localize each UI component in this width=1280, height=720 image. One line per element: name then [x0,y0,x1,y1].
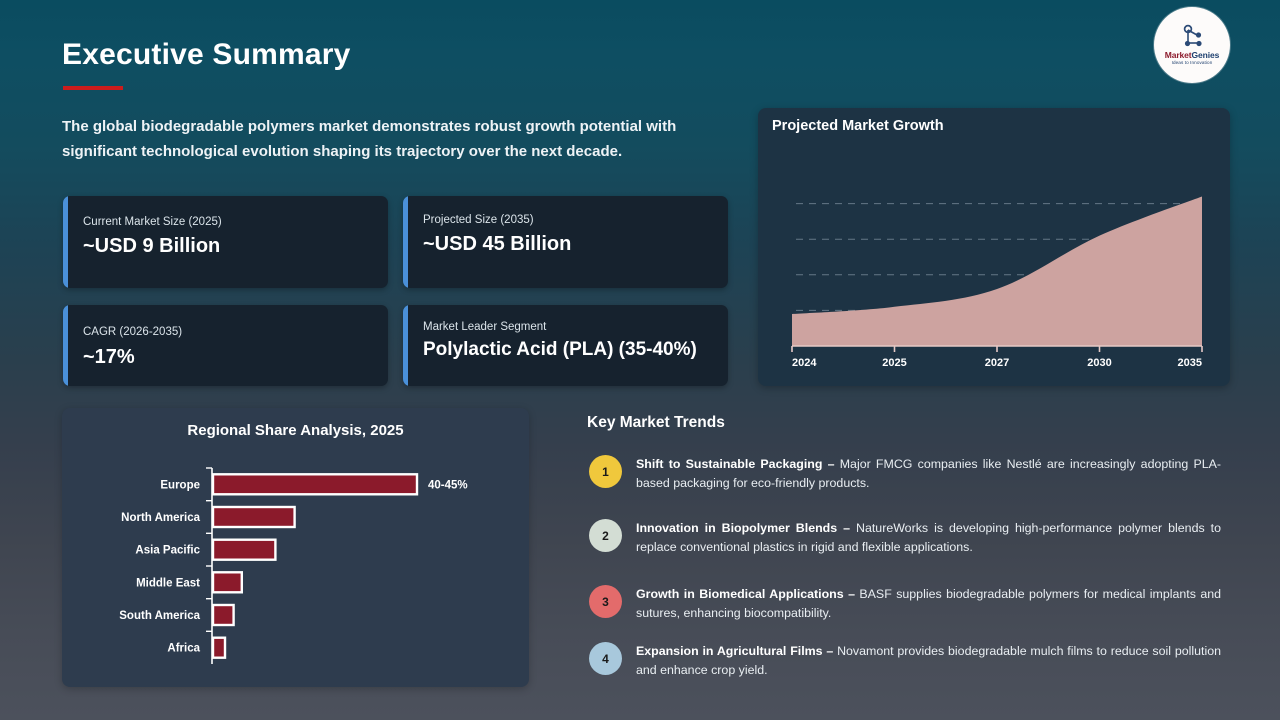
stat-value: Polylactic Acid (PLA) (35-40%) [423,339,697,361]
trend-badge-4: 4 [589,642,622,675]
regional-share-panel: Regional Share Analysis, 2025 Europe40-4… [62,408,529,687]
svg-text:Asia Pacific: Asia Pacific [135,545,200,557]
trend-heading-4: Expansion in Agricultural Films – [636,644,837,658]
svg-text:2024: 2024 [792,357,817,369]
svg-text:2030: 2030 [1087,357,1111,369]
trend-item-1: 1 Shift to Sustainable Packaging – Major… [589,455,1221,493]
stat-card-current-market-size: Current Market Size (2025) ~USD 9 Billio… [63,196,388,288]
trend-text-4: Expansion in Agricultural Films – Novamo… [636,642,1221,680]
logo-word-genies: Genies [1192,50,1220,60]
svg-text:2027: 2027 [985,357,1009,369]
trend-text-1: Shift to Sustainable Packaging – Major F… [636,455,1221,493]
svg-text:Europe: Europe [160,479,200,491]
projected-market-growth-panel: Projected Market Growth 2024202520272030… [758,108,1230,386]
stat-value: ~USD 45 Billion [423,233,571,256]
page-title: Executive Summary [62,38,351,72]
trend-badge-2: 2 [589,519,622,552]
company-logo: MarketGenies Ideas to Innovation [1154,7,1230,83]
trend-badge-3: 3 [589,585,622,618]
growth-area-chart: 20242025202720302035 [758,108,1230,386]
trend-heading-3: Growth in Biomedical Applications – [636,587,859,601]
trend-heading-2: Innovation in Biopolymer Blends – [636,521,856,535]
key-market-trends-heading: Key Market Trends [587,414,725,432]
stat-card-cagr: CAGR (2026-2035) ~17% [63,305,388,386]
trend-item-2: 2 Innovation in Biopolymer Blends – Natu… [589,519,1221,557]
trend-text-3: Growth in Biomedical Applications – BASF… [636,585,1221,623]
trend-badge-1: 1 [589,455,622,488]
svg-text:Africa: Africa [167,643,200,655]
stat-card-market-leader-segment: Market Leader Segment Polylactic Acid (P… [403,305,728,386]
svg-text:Middle East: Middle East [136,577,200,589]
svg-text:2025: 2025 [882,357,906,369]
logo-tagline: Ideas to Innovation [1172,61,1213,66]
trend-text-2: Innovation in Biopolymer Blends – Nature… [636,519,1221,557]
stat-card-projected-size: Projected Size (2035) ~USD 45 Billion [403,196,728,288]
stat-label: Current Market Size (2025) [83,216,222,228]
trend-heading-1: Shift to Sustainable Packaging – [636,457,840,471]
stat-value: ~USD 9 Billion [83,235,220,258]
molecule-node-icon [1177,24,1207,50]
svg-text:South America: South America [119,610,200,622]
stat-label: Market Leader Segment [423,321,546,333]
stat-label: CAGR (2026-2035) [83,326,182,338]
title-underline-rule [63,86,123,90]
trend-item-4: 4 Expansion in Agricultural Films – Nova… [589,642,1221,680]
svg-text:40-45%: 40-45% [428,479,468,491]
page-subtitle: The global biodegradable polymers market… [62,114,742,164]
svg-text:North America: North America [121,512,200,524]
stat-value: ~17% [83,346,135,369]
logo-wordmark: MarketGenies [1165,51,1220,60]
regional-bar-chart: Europe40-45%North AmericaAsia PacificMid… [62,408,529,687]
logo-word-market: Market [1165,50,1192,60]
stat-label: Projected Size (2035) [423,214,534,226]
svg-text:2035: 2035 [1178,357,1202,369]
trend-item-3: 3 Growth in Biomedical Applications – BA… [589,585,1221,623]
